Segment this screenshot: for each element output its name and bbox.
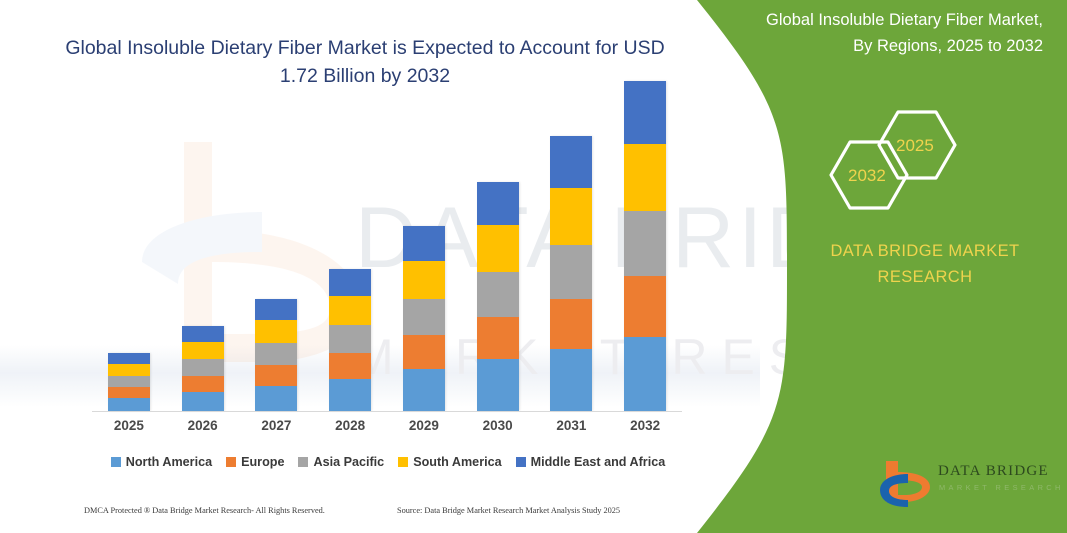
legend-label: Europe [241, 455, 284, 469]
stacked-bar[interactable] [329, 269, 371, 411]
panel-title: Global Insoluble Dietary Fiber Market, B… [713, 8, 1043, 59]
bar-segment[interactable] [477, 182, 519, 225]
bar-segment[interactable] [477, 272, 519, 317]
x-axis-tick: 2031 [535, 418, 609, 433]
panel-brand: DATA BRIDGE MARKET RESEARCH [790, 238, 1060, 291]
panel-brand-line2: RESEARCH [790, 264, 1060, 290]
legend-label: Middle East and Africa [531, 455, 666, 469]
bar-segment[interactable] [255, 386, 297, 411]
chart-plot-area [92, 120, 682, 412]
data-bridge-logo: DATA BRIDGE MARKET RESEARCH [878, 458, 1048, 510]
bar-segment[interactable] [329, 325, 371, 353]
bar-segment[interactable] [329, 353, 371, 379]
bar-segment[interactable] [403, 226, 445, 261]
page-title: Global Insoluble Dietary Fiber Market is… [60, 34, 670, 91]
bar-segment[interactable] [624, 337, 666, 411]
bar-group [313, 269, 387, 411]
legend-swatch-icon [226, 457, 236, 467]
bar-segment[interactable] [108, 376, 150, 387]
bar-segment[interactable] [329, 379, 371, 411]
bar-segment[interactable] [255, 320, 297, 343]
legend-label: North America [126, 455, 212, 469]
bar-segment[interactable] [182, 376, 224, 392]
chart-legend: North AmericaEuropeAsia PacificSouth Ame… [92, 455, 684, 469]
x-axis-tick: 2028 [313, 418, 387, 433]
bar-segment[interactable] [403, 299, 445, 335]
bar-segment[interactable] [477, 359, 519, 411]
stacked-bar[interactable] [182, 326, 224, 411]
x-axis-tick: 2030 [461, 418, 535, 433]
bar-segment[interactable] [182, 392, 224, 411]
stacked-bar[interactable] [550, 136, 592, 411]
bar-segment[interactable] [255, 365, 297, 386]
bar-segment[interactable] [550, 188, 592, 245]
x-axis-tick: 2027 [240, 418, 314, 433]
bar-segment[interactable] [108, 364, 150, 376]
legend-label: South America [413, 455, 501, 469]
bar-segment[interactable] [182, 359, 224, 376]
bar-segment[interactable] [624, 81, 666, 144]
bar-segment[interactable] [182, 326, 224, 342]
bar-segment[interactable] [550, 136, 592, 188]
stacked-bar[interactable] [477, 182, 519, 411]
stacked-bar[interactable] [403, 226, 445, 411]
legend-item[interactable]: North America [111, 455, 212, 469]
bar-segment[interactable] [403, 261, 445, 299]
bar-segment[interactable] [182, 342, 224, 359]
bar-segment[interactable] [477, 225, 519, 272]
data-bridge-logo-name: DATA BRIDGE [938, 463, 1049, 480]
x-axis-line [92, 411, 682, 412]
bar-segment[interactable] [624, 276, 666, 337]
bar-segment[interactable] [329, 296, 371, 325]
legend-item[interactable]: South America [398, 455, 501, 469]
panel-title-line2: By Regions, 2025 to 2032 [713, 34, 1043, 60]
bar-group [535, 136, 609, 411]
bar-segment[interactable] [477, 317, 519, 359]
bar-segment[interactable] [550, 349, 592, 411]
bar-segment[interactable] [550, 245, 592, 299]
bar-group [387, 226, 461, 411]
bar-group [240, 299, 314, 411]
legend-swatch-icon [398, 457, 408, 467]
hexagon-label-2025: 2025 [896, 136, 934, 156]
bar-segment[interactable] [255, 343, 297, 365]
bar-segment[interactable] [624, 211, 666, 276]
bar-segment[interactable] [329, 269, 371, 296]
panel-title-line1: Global Insoluble Dietary Fiber Market, [713, 8, 1043, 34]
footer-copyright: DMCA Protected ® Data Bridge Market Rese… [84, 506, 325, 515]
bar-group [166, 326, 240, 411]
bar-segment[interactable] [108, 387, 150, 398]
legend-item[interactable]: Middle East and Africa [516, 455, 666, 469]
bar-segment[interactable] [108, 353, 150, 364]
legend-item[interactable]: Europe [226, 455, 284, 469]
bar-segment[interactable] [403, 369, 445, 411]
legend-label: Asia Pacific [313, 455, 384, 469]
bar-segment[interactable] [108, 398, 150, 411]
data-bridge-logo-sub: MARKET RESEARCH [939, 483, 1064, 492]
x-axis-tick: 2025 [92, 418, 166, 433]
bar-segment[interactable] [255, 299, 297, 320]
chart-bars [92, 120, 682, 411]
data-bridge-mark-icon [878, 458, 934, 508]
hexagon-label-2032: 2032 [848, 166, 886, 186]
legend-swatch-icon [111, 457, 121, 467]
legend-swatch-icon [516, 457, 526, 467]
x-axis-tick: 2026 [166, 418, 240, 433]
x-axis-labels: 20252026202720282029203020312032 [92, 418, 682, 433]
legend-swatch-icon [298, 457, 308, 467]
bar-group [92, 353, 166, 411]
bar-segment[interactable] [403, 335, 445, 369]
x-axis-tick: 2029 [387, 418, 461, 433]
infographic-root: DATA BRIDGE MARKET RESEARCH Global Insol… [0, 0, 1067, 533]
hexagon-group: 2025 2032 [820, 90, 1020, 210]
panel-brand-line1: DATA BRIDGE MARKET [790, 238, 1060, 264]
footer-source: Source: Data Bridge Market Research Mark… [397, 506, 620, 515]
legend-item[interactable]: Asia Pacific [298, 455, 384, 469]
x-axis-tick: 2032 [608, 418, 682, 433]
bar-segment[interactable] [550, 299, 592, 349]
stacked-bar[interactable] [624, 81, 666, 411]
stacked-bar[interactable] [108, 353, 150, 411]
bar-segment[interactable] [624, 144, 666, 211]
bar-group [608, 81, 682, 411]
bar-group [461, 182, 535, 411]
stacked-bar[interactable] [255, 299, 297, 411]
